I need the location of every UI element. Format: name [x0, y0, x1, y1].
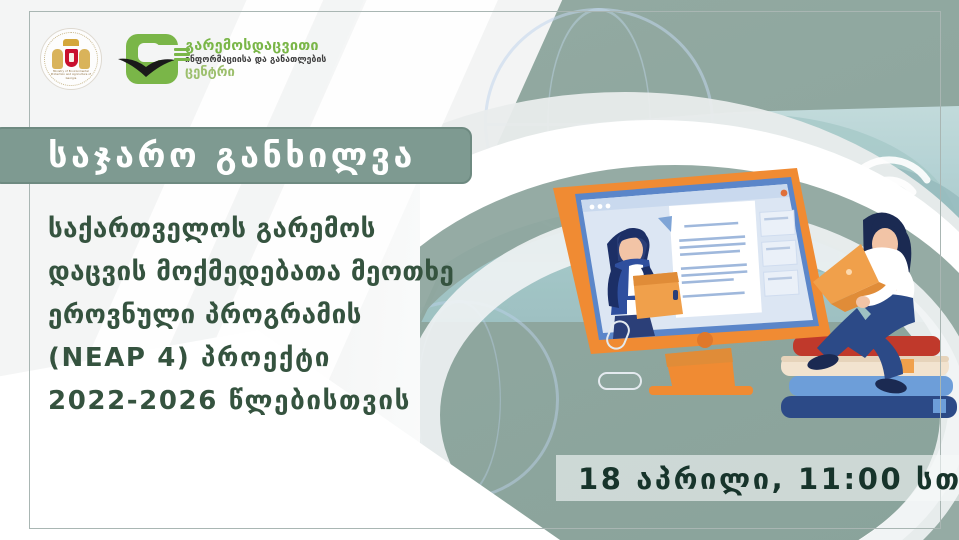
poster-canvas: Ministry of Environmental Protection and… — [0, 0, 959, 540]
logo-line-1: გარემოსდაცვითი — [185, 39, 326, 54]
eiec-logo-icon — [126, 34, 178, 84]
body-line: დაცვის მოქმედებათა მეოთხე — [48, 259, 448, 285]
headline-banner: საჯარო განხილვა — [0, 127, 472, 184]
body-line: ეროვნული პროგრამის — [48, 302, 448, 328]
open-book-icon — [117, 55, 177, 79]
shield-icon — [65, 49, 78, 67]
body-line: საქართველოს გარემოს — [48, 216, 448, 242]
lion-left — [52, 49, 63, 69]
wifi-icon — [845, 152, 933, 210]
body-line: (NEAP 4) პროექტი — [48, 345, 448, 371]
body-text-block: საქართველოს გარემოს დაცვის მოქმედებათა მ… — [48, 216, 448, 431]
pill-shape-decoration — [598, 372, 642, 390]
logo-line-3: ცენტრი — [185, 66, 326, 80]
emblem-caption: Ministry of Environmental Protection and… — [49, 70, 93, 80]
event-date-time: 18 აპრილი, 11:00 სთ — [578, 462, 959, 496]
logo-bars — [174, 48, 190, 63]
headline-banner-text: საჯარო განხილვა — [48, 136, 416, 176]
lion-right — [79, 49, 90, 69]
header-logos: Ministry of Environmental Protection and… — [40, 28, 326, 90]
body-line: 2022-2026 წლებისთვის — [48, 388, 448, 414]
crown-icon — [63, 39, 79, 46]
georgia-coat-of-arms-icon: Ministry of Environmental Protection and… — [40, 28, 102, 90]
eiec-logo-text: გარემოსდაცვითი ინფორმაციისა და განათლები… — [185, 39, 326, 80]
eiec-logo: გარემოსდაცვითი ინფორმაციისა და განათლები… — [126, 34, 326, 84]
logo-line-2: ინფორმაციისა და განათლების — [185, 56, 326, 65]
